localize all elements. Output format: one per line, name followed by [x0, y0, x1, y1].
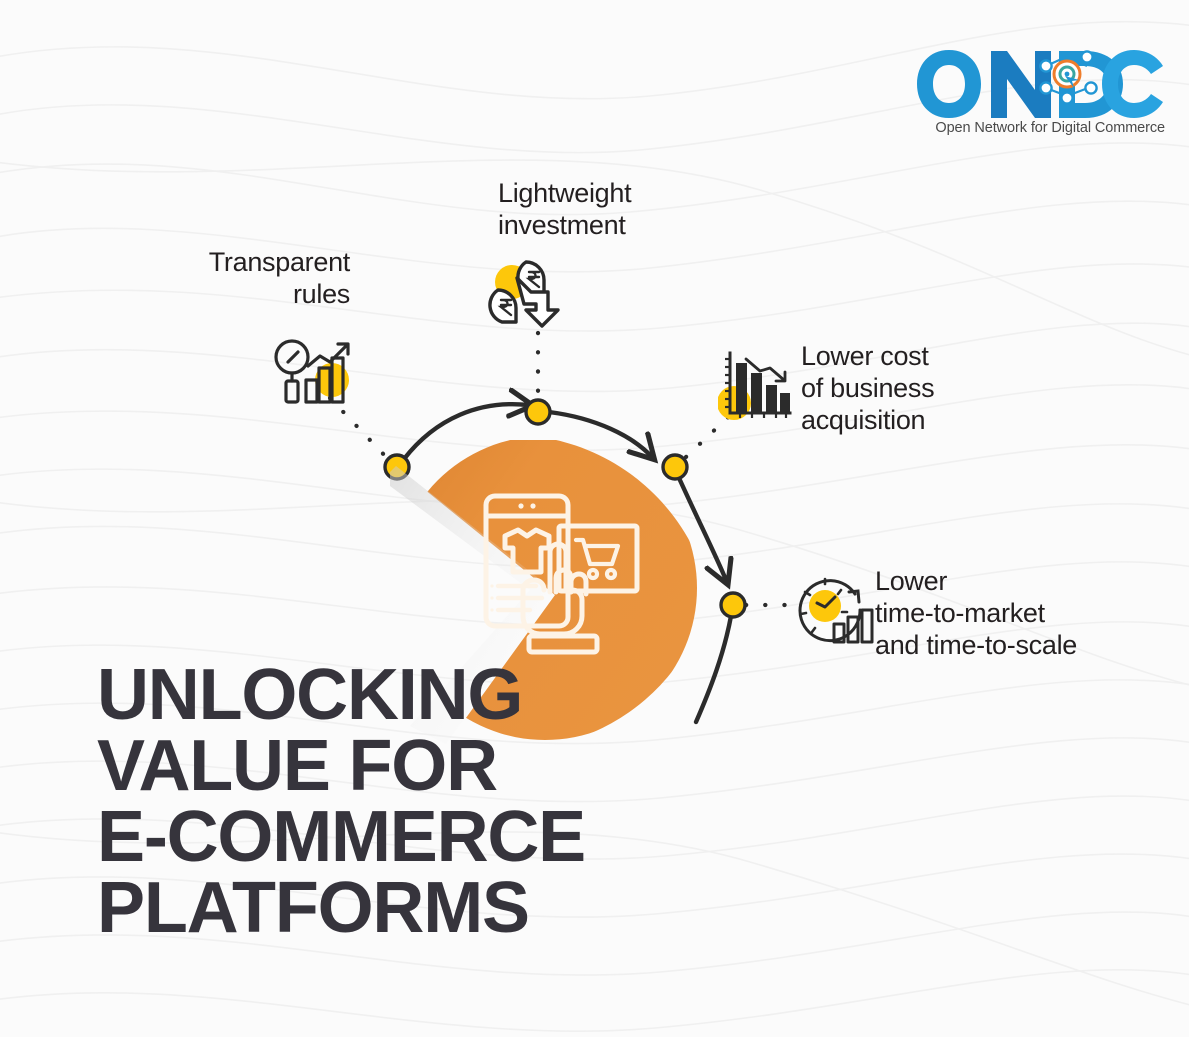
rupee-coins-down-arrow-icon: [486, 254, 566, 332]
declining-bar-chart-icon: [718, 347, 796, 425]
ondc-logo: Open Network for Digital Commerce: [915, 44, 1165, 144]
node-dot-lightweight-investment: [526, 400, 550, 424]
node-dot-lower-time: [721, 593, 745, 617]
page-title: UNLOCKING VALUE FOR E-COMMERCE PLATFORMS: [97, 660, 717, 944]
logo-tagline: Open Network for Digital Commerce: [915, 120, 1165, 136]
clock-growth-bars-icon: [792, 572, 878, 646]
label-lower-cost-of-business-acquisition: Lower cost of business acquisition: [801, 341, 1101, 437]
ondc-logo-mark: [915, 44, 1165, 124]
label-lightweight-investment: Lightweight investment: [498, 178, 748, 242]
magnifier-bar-chart-icon: [272, 330, 360, 408]
label-lower-time-to-market: Lower time-to-market and time-to-scale: [875, 566, 1175, 662]
label-transparent-rules: Transparent rules: [120, 247, 350, 311]
infographic-canvas: Open Network for Digital Commerce: [0, 0, 1189, 1037]
